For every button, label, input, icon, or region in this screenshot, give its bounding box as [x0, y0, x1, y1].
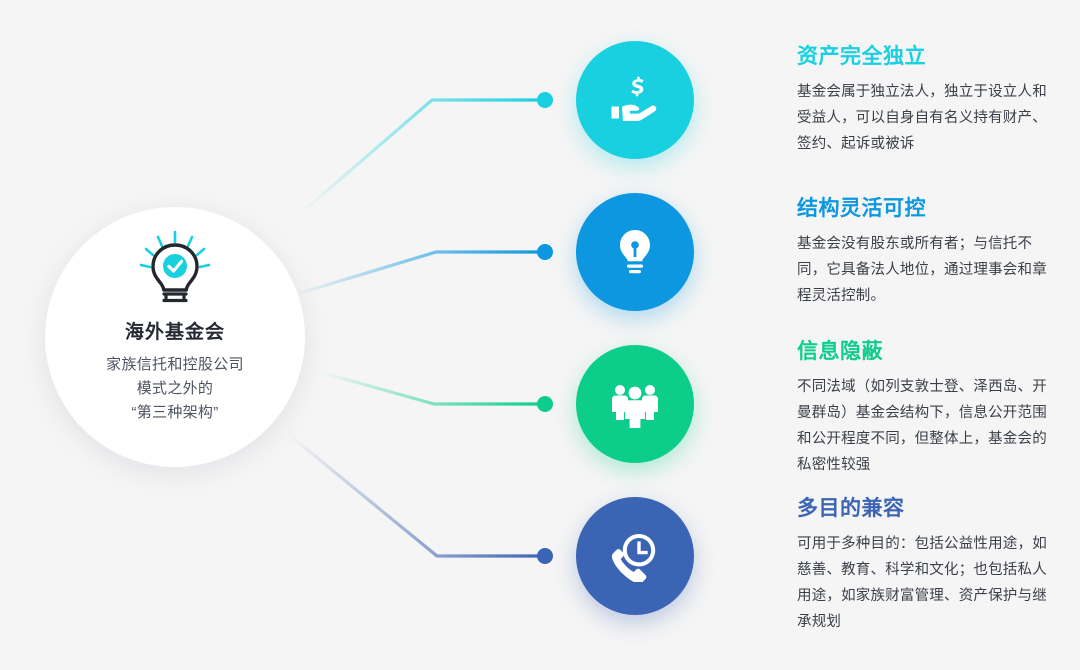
connector-path-2: [290, 252, 541, 296]
people-group-icon: [609, 380, 661, 428]
hub-title: 海外基金会: [125, 317, 225, 344]
branch-body: 基金会没有股东或所有者；与信托不同，它具备法人地位，通过理事会和章程灵活控制。: [797, 231, 1057, 309]
hub-subtitle-line: 家族信托和控股公司: [106, 353, 244, 377]
center-hub: 海外基金会 家族信托和控股公司 模式之外的 “第三种架构”: [45, 207, 305, 467]
hub-subtitle-line: 模式之外的: [106, 377, 244, 401]
hub-subtitle: 家族信托和控股公司 模式之外的 “第三种架构”: [106, 353, 244, 425]
connector-dot-2: [537, 244, 553, 260]
branch-text-asset-independence: 资产完全独立 基金会属于独立法人，独立于设立人和受益人，可以自身自有名义持有财产…: [797, 40, 1057, 157]
branch-heading: 信息隐蔽: [797, 335, 1057, 365]
connector-path-4: [288, 434, 541, 556]
branch-text-multi-purpose: 多目的兼容 可用于多种目的：包括公益性用途，如慈善、教育、科学和文化；也包括私人…: [797, 492, 1057, 635]
branch-body: 基金会属于独立法人，独立于设立人和受益人，可以自身自有名义持有财产、签约、起诉或…: [797, 79, 1057, 157]
connector-dot-1: [537, 92, 553, 108]
branch-body: 不同法域（如列支敦士登、泽西岛、开曼群岛）基金会结构下，信息公开范围和公开程度不…: [797, 374, 1057, 478]
phone-clock-icon: [609, 530, 661, 582]
lightbulb-check-icon: [132, 229, 218, 311]
hand-holding-dollar-icon: [608, 73, 662, 127]
branch-text-information-privacy: 信息隐蔽 不同法域（如列支敦士登、泽西岛、开曼群岛）基金会结构下，信息公开范围和…: [797, 335, 1057, 478]
branch-text-flexible-structure: 结构灵活可控 基金会没有股东或所有者；与信托不同，它具备法人地位，通过理事会和章…: [797, 192, 1057, 309]
branch-icon-flexible-structure[interactable]: [576, 193, 694, 311]
lightbulb-icon: [610, 227, 660, 277]
branch-heading: 多目的兼容: [797, 492, 1057, 522]
branch-icon-asset-independence[interactable]: [576, 41, 694, 159]
branch-heading: 结构灵活可控: [797, 192, 1057, 222]
connector-dot-4: [537, 548, 553, 564]
infographic-canvas: 海外基金会 家族信托和控股公司 模式之外的 “第三种架构”: [0, 0, 1080, 670]
hub-subtitle-line: “第三种架构”: [106, 401, 244, 425]
connector-dot-3: [537, 396, 553, 412]
connector-path-3: [320, 372, 541, 404]
branch-icon-information-privacy[interactable]: [576, 345, 694, 463]
branch-icon-multi-purpose[interactable]: [576, 497, 694, 615]
branch-heading: 资产完全独立: [797, 40, 1057, 70]
connector-path-1: [300, 100, 541, 214]
branch-body: 可用于多种目的：包括公益性用途，如慈善、教育、科学和文化；也包括私人用途，如家族…: [797, 531, 1057, 635]
